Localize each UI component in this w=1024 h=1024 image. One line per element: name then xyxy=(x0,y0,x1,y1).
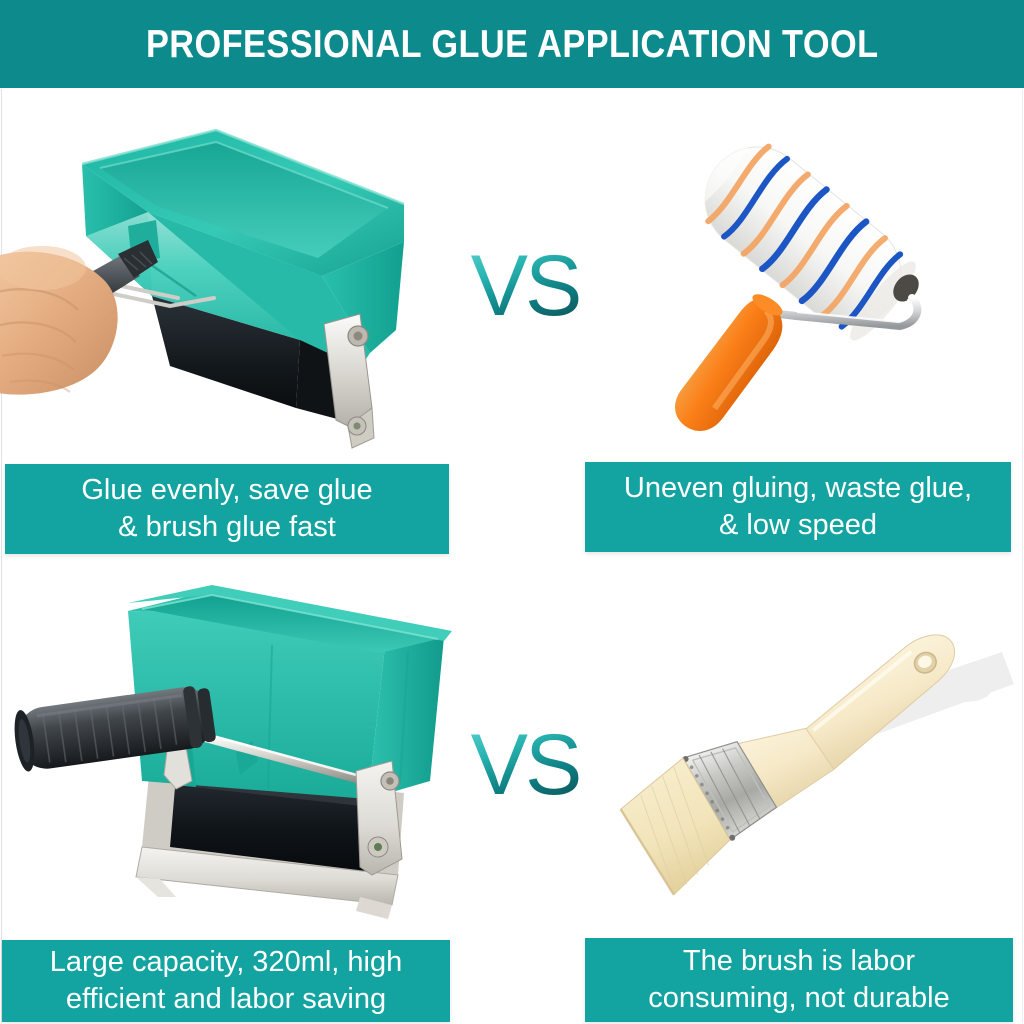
product-image-paint-brush xyxy=(610,580,1020,930)
roller-handle xyxy=(666,283,795,445)
page-title: PROFESSIONAL GLUE APPLICATION TOOL xyxy=(146,25,879,64)
product-image-paint-roller xyxy=(600,130,1020,460)
product-image-glue-applicator-handheld xyxy=(0,108,460,458)
vs-separator-top: VS xyxy=(465,243,585,329)
caption-paint-roller: Uneven gluing, waste glue, & low speed xyxy=(585,462,1011,552)
metal-bracket xyxy=(324,314,374,448)
caption-text: Uneven gluing, waste glue, & low speed xyxy=(624,470,972,544)
caption-text: Glue evenly, save glue & brush glue fast xyxy=(81,472,372,546)
paint-brush xyxy=(610,627,999,900)
caption-paint-brush: The brush is labor consuming, not durabl… xyxy=(585,938,1013,1022)
infographic-page: PROFESSIONAL GLUE APPLICATION TOOL xyxy=(0,0,1024,1024)
caption-glue-applicator-handheld: Glue evenly, save glue & brush glue fast xyxy=(5,464,449,554)
caption-text: Large capacity, 320ml, high efficient an… xyxy=(50,944,403,1018)
metal-bracket xyxy=(356,761,402,875)
vs-separator-bottom: VS xyxy=(465,722,585,808)
caption-glue-applicator-standalone: Large capacity, 320ml, high efficient an… xyxy=(2,940,450,1022)
header-banner: PROFESSIONAL GLUE APPLICATION TOOL xyxy=(0,0,1024,88)
caption-text: The brush is labor consuming, not durabl… xyxy=(648,943,949,1017)
product-image-glue-applicator-standalone xyxy=(0,575,470,930)
